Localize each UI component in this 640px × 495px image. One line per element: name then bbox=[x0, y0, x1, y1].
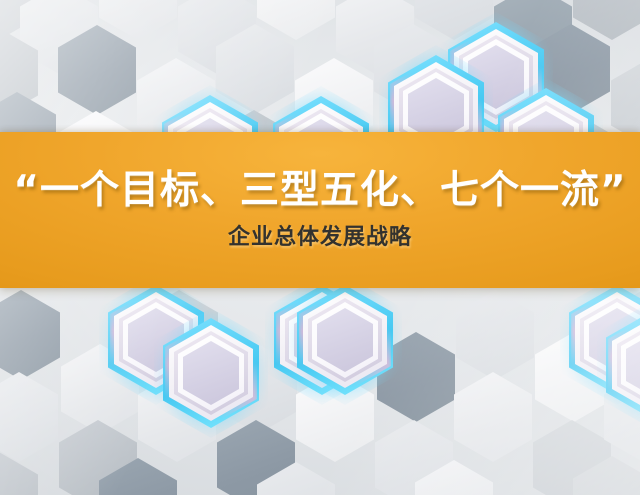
glowing-hexagon bbox=[297, 285, 393, 395]
glowing-hexagon bbox=[606, 310, 640, 420]
glowing-hexagon bbox=[163, 318, 259, 428]
hexagon-tile bbox=[0, 290, 60, 380]
slide-canvas: “一个目标、三型五化、七个一流” 企业总体发展战略 bbox=[0, 0, 640, 495]
hexagon-tile bbox=[0, 372, 58, 462]
banner-subtitle: 企业总体发展战略 bbox=[228, 226, 412, 250]
hexagon-tile bbox=[456, 290, 534, 380]
hexagon-tile bbox=[454, 372, 532, 462]
title-banner: “一个目标、三型五化、七个一流” 企业总体发展战略 bbox=[0, 132, 640, 288]
banner-title: “一个目标、三型五化、七个一流” bbox=[13, 170, 626, 212]
